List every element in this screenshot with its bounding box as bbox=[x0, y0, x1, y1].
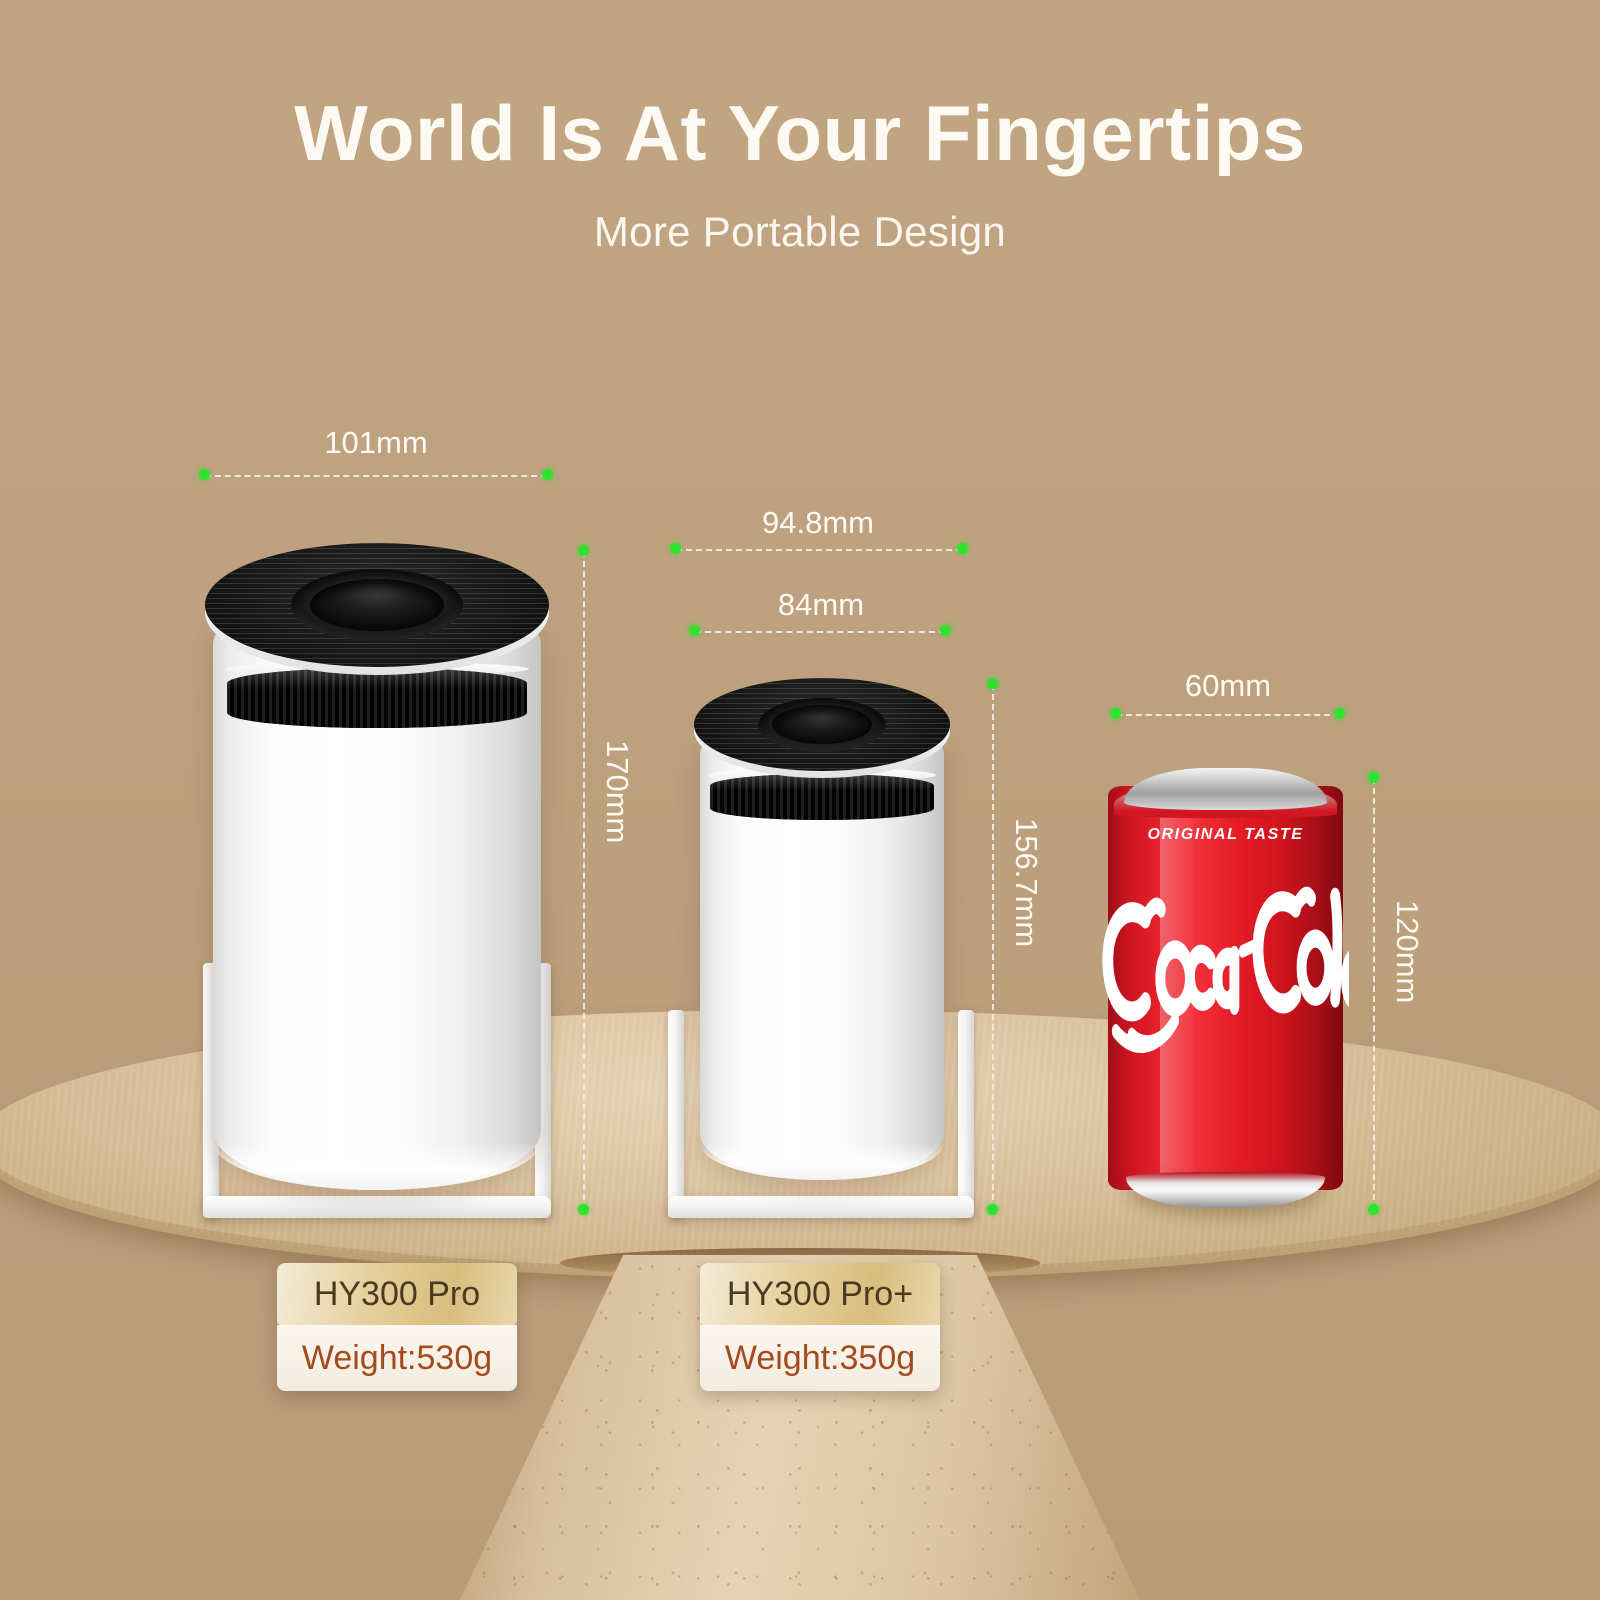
dim-dot-proplus-outer-left bbox=[670, 543, 681, 554]
dim-dot-pro-width-left bbox=[199, 469, 210, 480]
stand-foot bbox=[203, 1196, 551, 1218]
projector-hy300-proplus-cap bbox=[694, 678, 950, 778]
dim-label-proplus-height: 156.7mm bbox=[1008, 818, 1044, 947]
dim-line-can-width bbox=[1116, 714, 1340, 716]
vent-band bbox=[227, 668, 527, 728]
dim-label-can-width: 60mm bbox=[1110, 668, 1346, 704]
dim-dot-proplus-inner-left bbox=[689, 625, 700, 636]
vent-band bbox=[710, 774, 934, 820]
projector-lens bbox=[772, 705, 872, 744]
dim-line-proplus-width-outer bbox=[676, 549, 962, 551]
page-subtitle: More Portable Design bbox=[0, 208, 1600, 256]
dim-line-can-height bbox=[1373, 778, 1375, 1210]
dim-dot-pro-height-top bbox=[578, 545, 589, 556]
dim-dot-can-height-bottom bbox=[1368, 1204, 1379, 1215]
product-card-hy300-proplus[interactable]: HY300 Pro+ Weight:350g bbox=[700, 1263, 940, 1391]
projector-hy300-pro bbox=[213, 590, 541, 1190]
dim-label-proplus-width-outer: 94.8mm bbox=[668, 505, 968, 541]
product-weight: Weight:530g bbox=[277, 1325, 517, 1391]
dim-dot-proplus-outer-right bbox=[957, 543, 968, 554]
coca-cola-can: ORIGINAL TASTE bbox=[1108, 768, 1343, 1208]
dim-label-pro-width: 101mm bbox=[200, 425, 552, 461]
dim-label-pro-height: 170mm bbox=[599, 740, 635, 843]
stand-arm-right bbox=[958, 1010, 974, 1218]
product-card-hy300-pro[interactable]: HY300 Pro Weight:530g bbox=[277, 1263, 517, 1391]
product-name-badge: HY300 Pro+ bbox=[700, 1263, 940, 1325]
dim-dot-pro-height-bottom bbox=[578, 1204, 589, 1215]
projector-hy300-pro-cap bbox=[205, 543, 549, 675]
product-weight: Weight:350g bbox=[700, 1325, 940, 1391]
dim-dot-proplus-height-top bbox=[987, 678, 998, 689]
dim-dot-can-width-right bbox=[1334, 708, 1345, 719]
dim-line-pro-height bbox=[583, 551, 585, 1210]
coca-cola-logo bbox=[1102, 864, 1349, 1064]
dim-label-can-height: 120mm bbox=[1389, 900, 1425, 1003]
dim-line-pro-width bbox=[205, 475, 547, 477]
can-bottom-rim bbox=[1126, 1172, 1325, 1208]
can-top-lid bbox=[1124, 768, 1327, 810]
projector-base-highlight bbox=[700, 1143, 944, 1180]
dim-line-proplus-width-inner bbox=[695, 631, 945, 633]
dim-dot-proplus-inner-right bbox=[940, 625, 951, 636]
projector-vent-band bbox=[710, 774, 934, 820]
infographic-stage: World Is At Your Fingertips More Portabl… bbox=[0, 0, 1600, 1600]
dim-dot-can-width-left bbox=[1110, 708, 1121, 719]
projector-hy300-proplus bbox=[700, 712, 944, 1180]
dim-label-proplus-width-inner: 84mm bbox=[688, 587, 954, 623]
stand-foot bbox=[668, 1196, 974, 1218]
product-name-badge: HY300 Pro bbox=[277, 1263, 517, 1325]
stand-arm-left bbox=[668, 1010, 684, 1218]
dim-dot-proplus-height-bottom bbox=[987, 1204, 998, 1215]
projector-lens bbox=[310, 579, 444, 631]
projector-base-highlight bbox=[213, 1142, 541, 1190]
dim-line-proplus-height bbox=[992, 684, 994, 1210]
dim-dot-pro-width-right bbox=[542, 469, 553, 480]
dim-dot-can-height-top bbox=[1368, 772, 1379, 783]
page-title: World Is At Your Fingertips bbox=[0, 88, 1600, 179]
projector-vent-band bbox=[227, 668, 527, 728]
can-tagline: ORIGINAL TASTE bbox=[1108, 826, 1343, 844]
